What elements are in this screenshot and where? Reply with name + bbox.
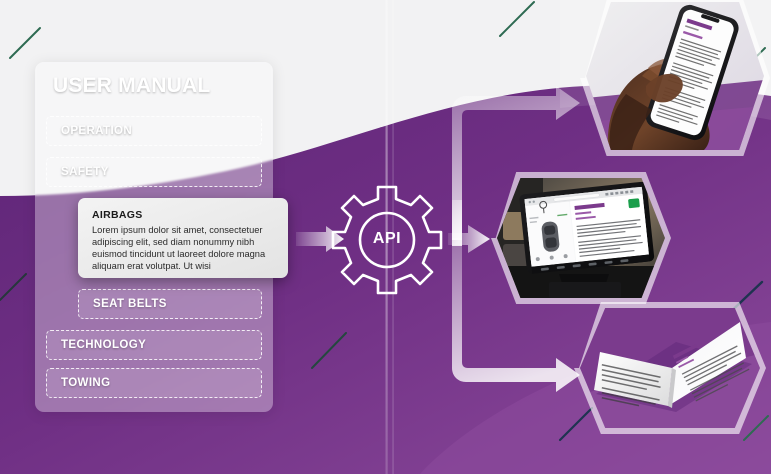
- menu-item-towing[interactable]: TOWING: [46, 368, 262, 398]
- menu-item-label: TOWING: [47, 377, 110, 389]
- car-infotainment-screen-photo: [497, 178, 665, 298]
- airbags-card-title: AIRBAGS: [92, 209, 275, 221]
- menu-item-technology[interactable]: TECHNOLOGY: [46, 330, 262, 360]
- smartphone-in-hand-photo: [586, 2, 764, 150]
- menu-item-operation[interactable]: OPERATION: [46, 116, 262, 146]
- open-printed-manual-photo: [580, 308, 760, 428]
- menu-item-label: TECHNOLOGY: [47, 339, 146, 351]
- output-tile-phone[interactable]: [586, 2, 764, 150]
- menu-item-safety[interactable]: SAFETY: [46, 157, 262, 187]
- infographic-canvas: USER MANUAL OPERATION SAFETY SEAT BELTS …: [0, 0, 771, 474]
- api-hub-label: API: [334, 186, 440, 292]
- airbags-detail-card: AIRBAGS Lorem ipsum dolor sit amet, cons…: [78, 198, 288, 278]
- menu-item-label: OPERATION: [47, 125, 132, 137]
- page-title: USER MANUAL: [53, 74, 210, 98]
- menu-item-seat-belts[interactable]: SEAT BELTS: [78, 289, 262, 319]
- airbags-card-body: Lorem ipsum dolor sit amet, consectetuer…: [92, 224, 278, 272]
- menu-item-label: SEAT BELTS: [79, 298, 167, 310]
- output-tile-printed-manual[interactable]: [580, 308, 760, 428]
- menu-item-label: SAFETY: [47, 166, 109, 178]
- output-tile-car-display[interactable]: [497, 178, 665, 298]
